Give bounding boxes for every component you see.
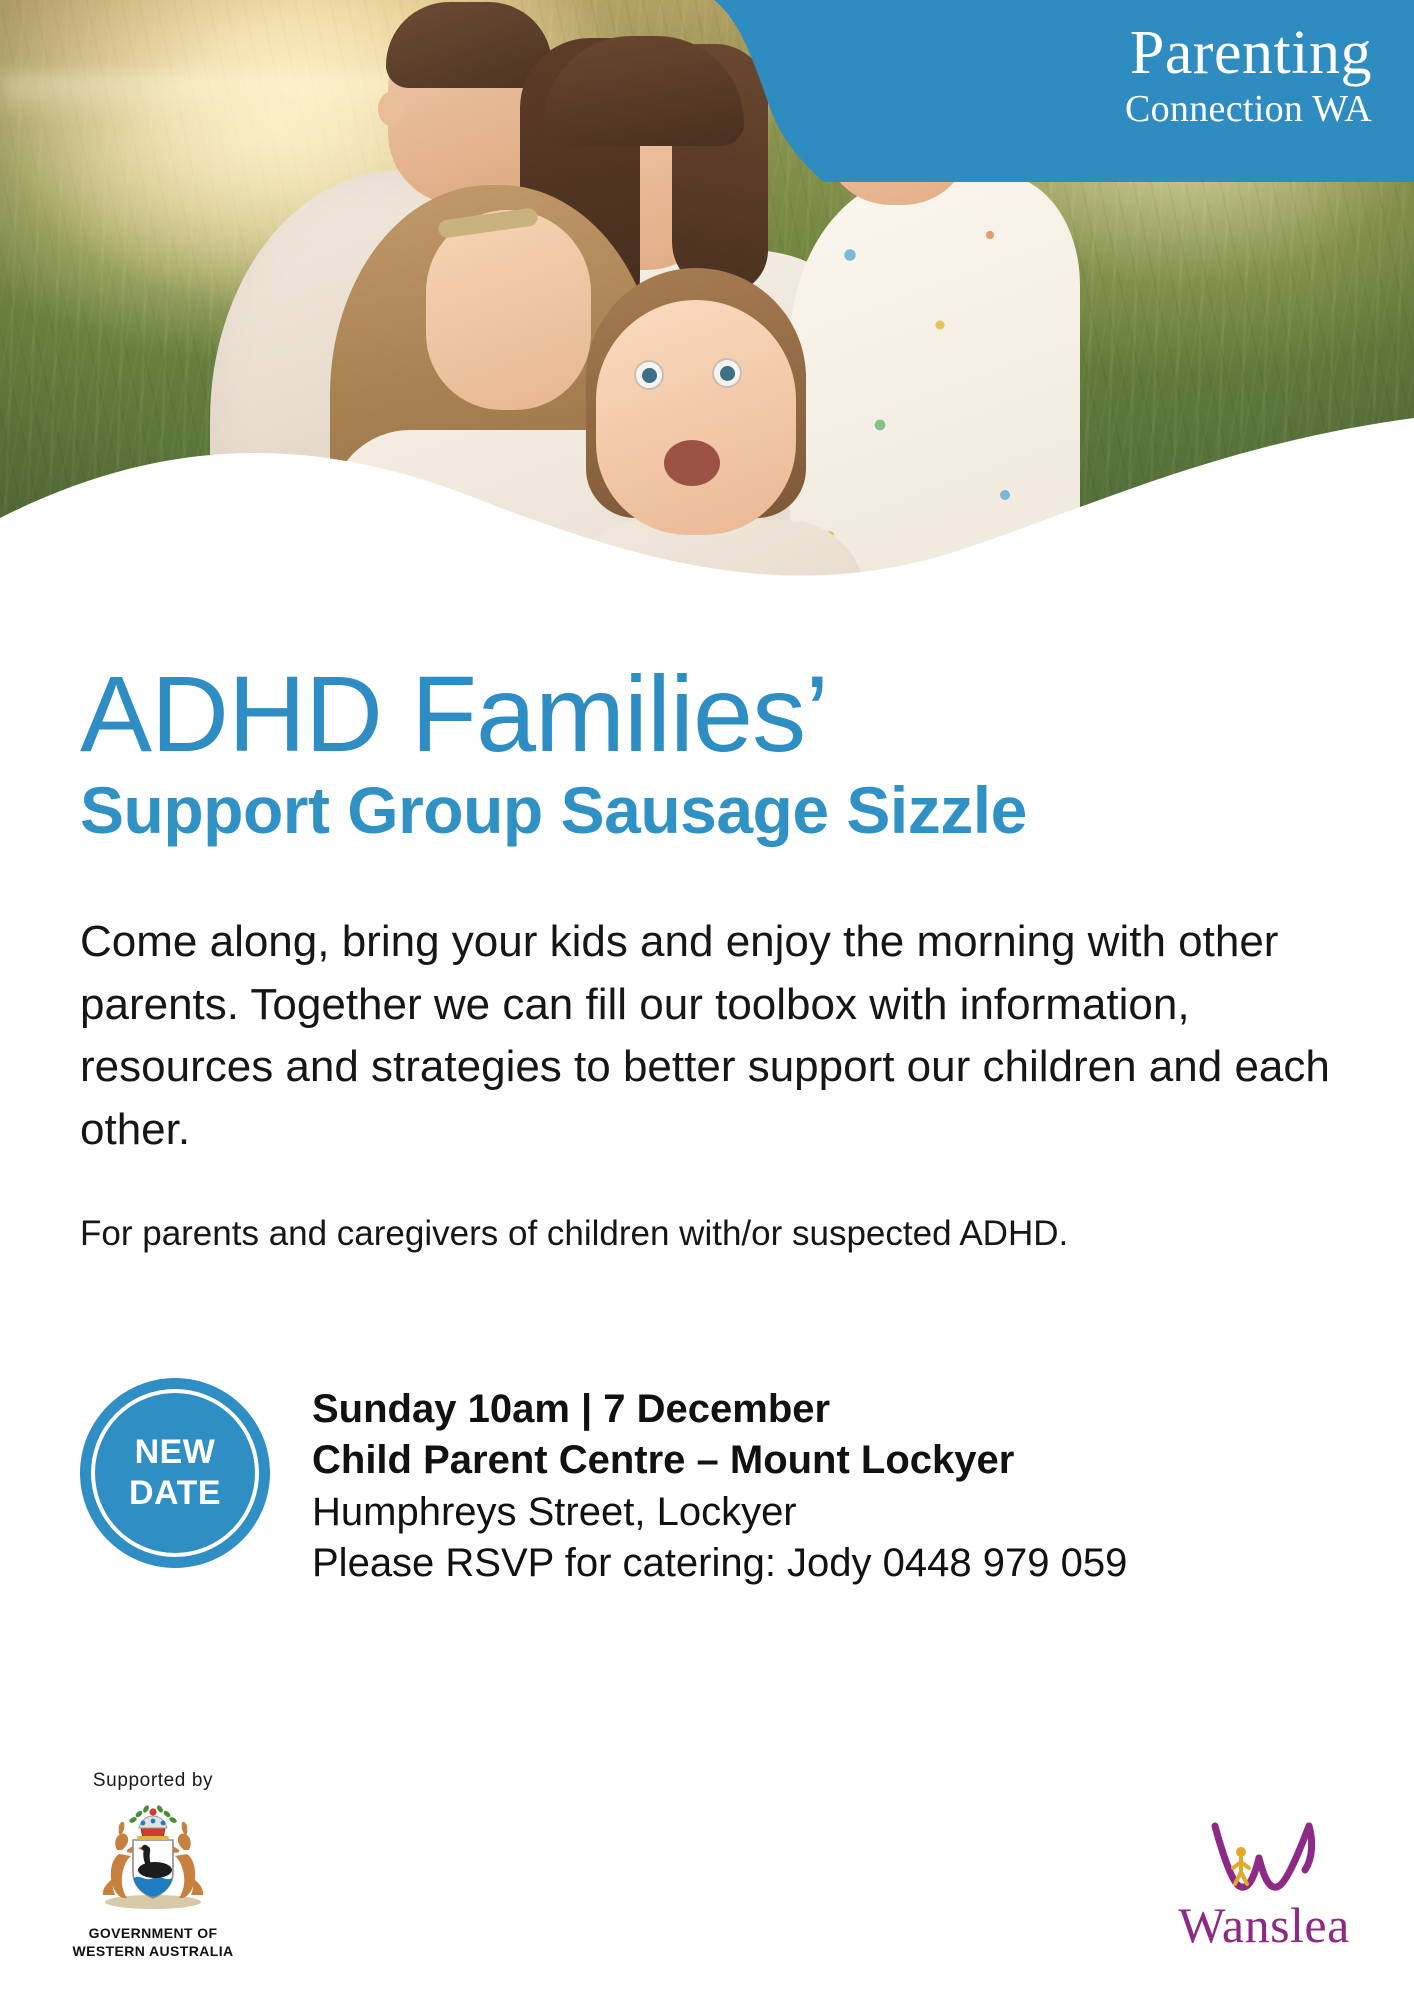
government-logo-block: Supported by <box>58 1770 248 1961</box>
event-details-text: Sunday 10am | 7 December Child Parent Ce… <box>312 1376 1127 1589</box>
government-name-line1: GOVERNMENT OF <box>58 1925 248 1943</box>
title-block: ADHD Families’ Support Group Sausage Siz… <box>0 660 1414 845</box>
wave-divider <box>0 400 1414 670</box>
event-venue: Child Parent Centre – Mount Lockyer <box>312 1435 1127 1486</box>
poster-content: ADHD Families’ Support Group Sausage Siz… <box>0 660 1414 1589</box>
event-rsvp: Please RSVP for catering: Jody 0448 979 … <box>312 1538 1127 1589</box>
supported-by-label: Supported by <box>58 1770 248 1792</box>
brand-logo: Parenting Connection WA <box>1125 22 1372 128</box>
badge-line-1: NEW <box>135 1432 216 1473</box>
brand-name-primary: Parenting <box>1125 22 1372 84</box>
wa-government-crest-icon <box>93 1798 213 1916</box>
new-date-badge: NEW DATE <box>80 1378 270 1568</box>
government-name: GOVERNMENT OF WESTERN AUSTRALIA <box>58 1925 248 1961</box>
event-details: NEW DATE Sunday 10am | 7 December Child … <box>0 1376 1414 1589</box>
page-title: ADHD Families’ <box>80 660 1334 768</box>
wanslea-wordmark: Wanslea <box>1154 1900 1374 1950</box>
event-datetime: Sunday 10am | 7 December <box>312 1384 1127 1435</box>
badge-line-2: DATE <box>129 1473 221 1514</box>
brand-name-secondary: Connection WA <box>1125 90 1372 128</box>
wanslea-w-icon <box>1209 1818 1319 1896</box>
poster: Parenting Connection WA ADHD Families’ S… <box>0 0 1414 2000</box>
wanslea-logo-block: Wanslea <box>1154 1818 1374 1950</box>
page-subtitle: Support Group Sausage Sizzle <box>80 776 1334 845</box>
poster-footer: Supported by <box>0 1770 1414 2000</box>
audience-note: For parents and caregivers of children w… <box>80 1209 1334 1258</box>
body-paragraph: Come along, bring your kids and enjoy th… <box>80 911 1334 1161</box>
event-address: Humphreys Street, Lockyer <box>312 1487 1127 1538</box>
government-name-line2: WESTERN AUSTRALIA <box>58 1943 248 1961</box>
